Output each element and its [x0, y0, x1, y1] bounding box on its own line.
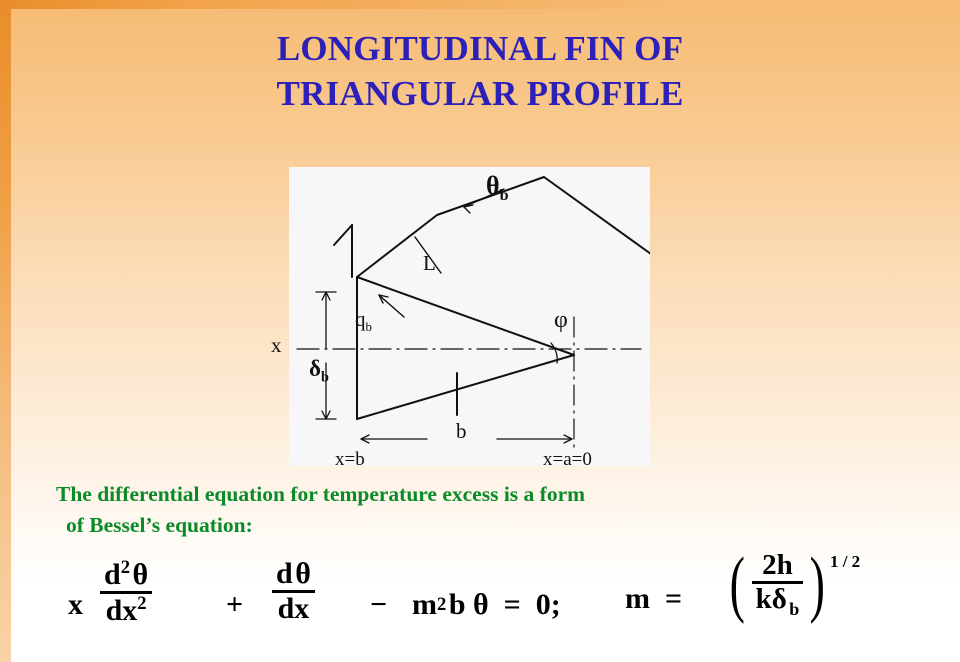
fin-diagram-svg — [289, 167, 650, 466]
eq-frac2-numerator: d θ — [272, 558, 315, 590]
figure-label-delta-b: δb — [309, 356, 329, 385]
figure-label-x-equals-a-equals-0: x=a=0 — [543, 449, 592, 471]
figure-label-x: x — [271, 333, 282, 358]
eq-frac2-denominator: dx — [274, 593, 314, 625]
eq-fraction-2: d θ dx — [272, 558, 315, 625]
slide: LONGITUDINAL FIN OF TRIANGULAR PROFILE — [0, 0, 960, 662]
eq-frac1-num-exponent: 2 — [121, 557, 130, 578]
eq-x: x — [68, 588, 83, 622]
figure-label-phi: φ — [554, 307, 568, 334]
title-line-2: TRIANGULAR PROFILE — [0, 71, 960, 116]
right-paren-icon: ) — [810, 556, 825, 614]
eq-m-definition-group: ( 2h kδ b ) 1 / 2 — [725, 550, 860, 619]
eq-frac1-dx: dx — [106, 594, 138, 627]
equation: x d2 θ dx2 + d θ dx — [60, 552, 960, 657]
page-title: LONGITUDINAL FIN OF TRIANGULAR PROFILE — [0, 26, 960, 116]
eq-frac1-d: d — [104, 558, 121, 591]
eq-frac2-theta: θ — [295, 557, 311, 590]
eq-minus: − — [370, 588, 387, 622]
eq-rhs: m2 b θ = 0; — [412, 588, 561, 622]
q-subscript: b — [366, 319, 373, 334]
delta-glyph: δ — [309, 356, 321, 381]
eq-b: b — [449, 588, 466, 622]
eq-theta: θ — [473, 588, 489, 622]
body-line-2: of Bessel’s equation: — [56, 510, 936, 541]
body-text: The differential equation for temperatur… — [56, 479, 936, 541]
theta-glyph: θ — [486, 171, 500, 200]
eq-frac3-subscript: b — [789, 599, 799, 619]
eq-frac3-denominator: kδ b — [752, 584, 804, 619]
eq-plus: + — [226, 588, 243, 622]
eq-fraction-1: d2 θ dx2 — [100, 558, 152, 627]
figure-label-b: b — [456, 419, 467, 444]
eq-frac1-den-exponent: 2 — [137, 593, 146, 614]
eq-frac1-numerator: d2 θ — [100, 558, 152, 591]
figure-label-x-equals-b: x=b — [335, 449, 365, 471]
eq-exponent-half: 1 / 2 — [830, 552, 860, 572]
theta-subscript: b — [500, 187, 509, 204]
eq-m-exponent: 2 — [437, 596, 446, 615]
eq-frac1-theta: θ — [133, 558, 149, 591]
q-glyph: q — [355, 307, 366, 331]
eq-m: m — [412, 588, 437, 622]
eq-m2: m — [625, 582, 650, 616]
figure-label-qb: qb — [355, 307, 372, 333]
title-line-1: LONGITUDINAL FIN OF — [277, 29, 683, 68]
eq-equals2: = — [665, 582, 682, 616]
body-line-1: The differential equation for temperatur… — [56, 482, 585, 506]
figure-label-L: L — [423, 251, 436, 276]
eq-frac2-d: d — [276, 557, 293, 590]
figure-label-theta-b: θb — [486, 171, 509, 204]
delta-subscript: b — [321, 370, 329, 386]
eq-frac3-k: k — [756, 583, 772, 615]
eq-equals: = — [504, 588, 521, 622]
eq-frac3-numerator: 2h — [758, 550, 797, 581]
fin-diagram — [289, 167, 650, 466]
eq-frac1-denominator: dx2 — [102, 594, 151, 627]
left-paren-icon: ( — [730, 556, 745, 614]
eq-m-definition-lhs: m = — [625, 582, 682, 616]
eq-zero: 0; — [536, 588, 561, 622]
eq-frac3-delta: δ — [772, 583, 787, 615]
